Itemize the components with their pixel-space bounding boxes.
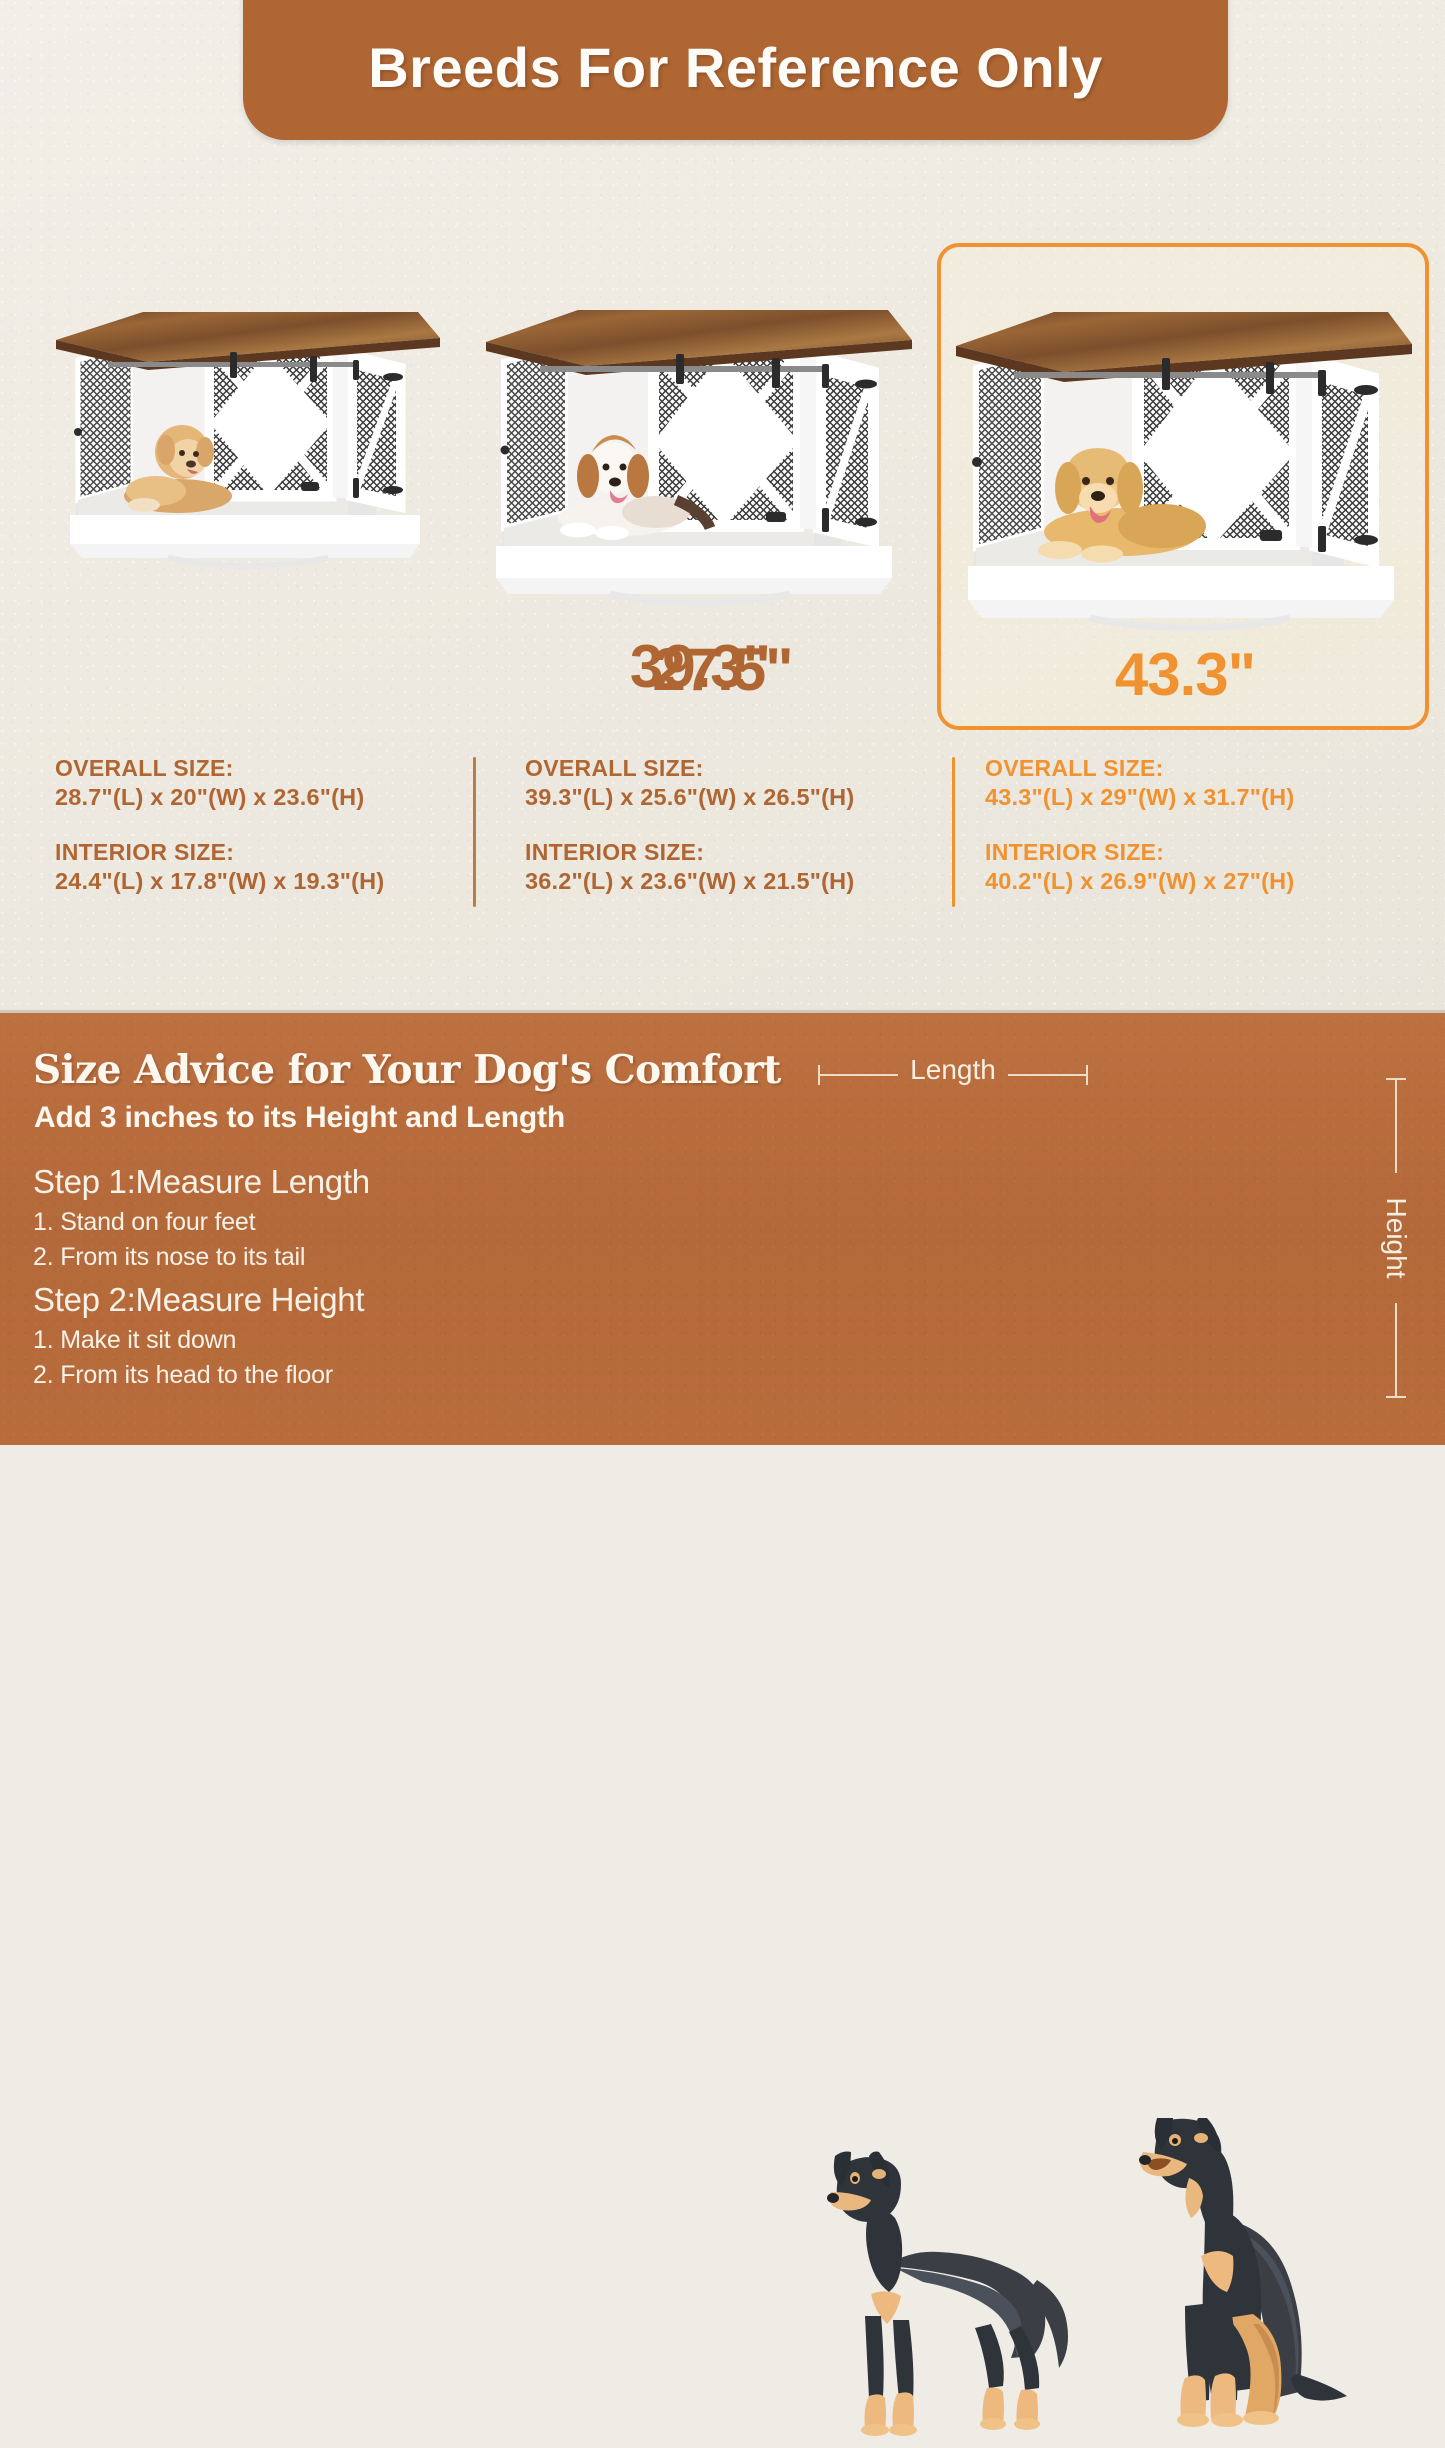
product-column-medium[interactable] [470,300,930,620]
overall-size-heading-medium: OVERALL SIZE: [525,755,955,782]
interior-size-heading-large: INTERIOR SIZE: [985,839,1425,866]
step-1-line-1: 1. Stand on four feet [33,1205,370,1240]
step-1-title: Step 1:Measure Length [33,1163,370,1201]
interior-size-value-small: 24.4"(L) x 17.8"(W) x 19.3"(H) [55,868,475,895]
overall-size-value-medium: 39.3"(L) x 25.6"(W) x 26.5"(H) [525,784,955,811]
doberman-standing-illustration [825,2148,1125,2448]
crate-image-medium [470,300,930,620]
header-banner: Breeds For Reference Only [243,0,1228,140]
length-line-right [1008,1074,1088,1076]
crate-image-small [28,300,468,600]
overall-size-heading-small: OVERALL SIZE: [55,755,475,782]
product-column-small[interactable] [28,300,468,600]
page-title: Breeds For Reference Only [368,35,1103,100]
overall-size-heading-large: OVERALL SIZE: [985,755,1425,782]
product-column-large[interactable] [950,300,1420,645]
length-cap-right [1086,1065,1088,1085]
height-cap-top [1386,1078,1406,1080]
step-2-title: Step 2:Measure Height [33,1281,364,1319]
length-label: Length [902,1054,1004,1086]
overall-size-value-small: 28.7"(L) x 20"(W) x 23.6"(H) [55,784,475,811]
measurement-dog-illustrations [815,2098,1415,2448]
dimensions-small: OVERALL SIZE: 28.7"(L) x 20"(W) x 23.6"(… [55,755,475,895]
advice-title: Size Advice for Your Dog's Comfort [33,1047,781,1093]
step-1-line-2: 2. From its nose to its tail [33,1240,370,1275]
interior-size-heading-small: INTERIOR SIZE: [55,839,475,866]
dimensions-medium: OVERALL SIZE: 39.3"(L) x 25.6"(W) x 26.5… [525,755,955,895]
length-line-left [818,1074,898,1076]
doberman-sitting-illustration [1135,2118,1380,2448]
height-line-top [1395,1078,1397,1173]
step-2-line-2: 2. From its head to the floor [33,1358,364,1393]
length-measure-guide: Length [818,1058,1088,1094]
height-label: Height [1380,1198,1412,1279]
dog-crate-illustration-large [950,300,1420,645]
interior-size-value-medium: 36.2"(L) x 23.6"(W) x 21.5"(H) [525,868,955,895]
height-cap-bottom [1386,1396,1406,1398]
advice-step-2: Step 2:Measure Height 1. Make it sit dow… [33,1281,364,1392]
advice-subtitle: Add 3 inches to its Height and Length [34,1101,565,1135]
crate-image-large [950,300,1420,645]
height-line-bottom [1395,1303,1397,1398]
advice-step-1: Step 1:Measure Length 1. Stand on four f… [33,1163,370,1274]
size-label-large: 43.3" [950,640,1420,709]
dog-crate-illustration-medium [480,300,920,620]
interior-size-heading-medium: INTERIOR SIZE: [525,839,955,866]
dog-crate-illustration-small [48,300,448,600]
overall-size-value-large: 43.3"(L) x 29"(W) x 31.7"(H) [985,784,1425,811]
step-2-line-1: 1. Make it sit down [33,1323,364,1358]
size-advice-panel: Size Advice for Your Dog's Comfort Add 3… [0,1010,1445,1445]
size-label-medium: 39.3" [470,632,930,701]
interior-size-value-large: 40.2"(L) x 26.9"(W) x 27"(H) [985,868,1425,895]
dimensions-large: OVERALL SIZE: 43.3"(L) x 29"(W) x 31.7"(… [985,755,1425,895]
height-measure-guide: Height [1378,1078,1414,1398]
length-cap-left [818,1065,820,1085]
